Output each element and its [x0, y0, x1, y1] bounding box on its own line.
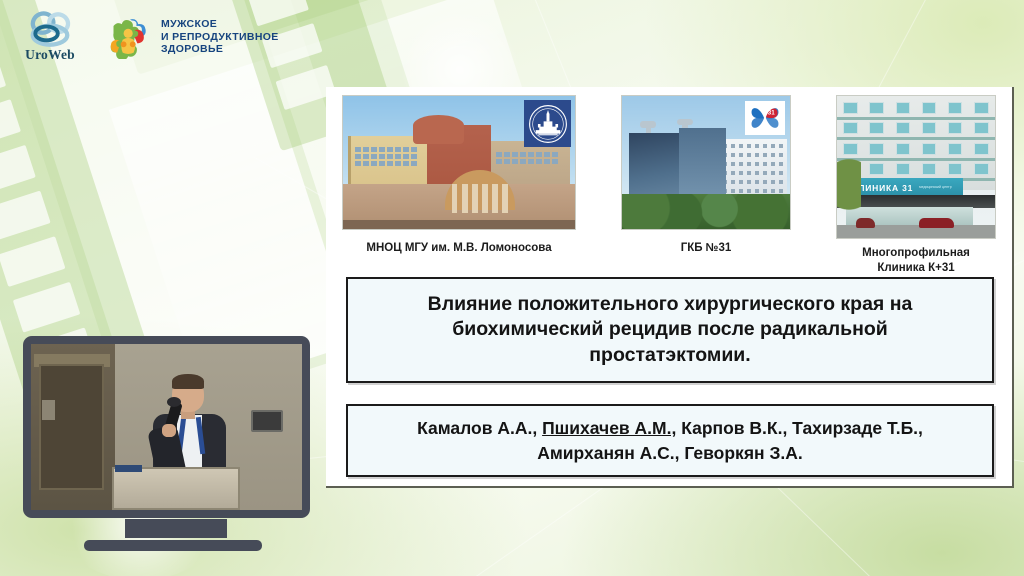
speaker-video-monitor[interactable] [23, 336, 310, 518]
congress-line-2: И РЕПРОДУКТИВНОЕ [161, 31, 279, 43]
uroweb-wordmark: UroWeb [25, 47, 75, 63]
hospital-31-petals-icon: 31 [745, 101, 785, 135]
organizations-row: МНОЦ МГУ им. М.В. Ломоносова [340, 95, 998, 277]
msu-seal-icon [524, 100, 571, 147]
congress-logo: МУЖСКОЕ И РЕПРОДУКТИВНОЕ ЗДОРОВЬЕ [108, 15, 279, 59]
clinic-sign-text: КЛИНИКА 31 [852, 183, 913, 193]
puzzle-people-icon [108, 15, 152, 59]
author-list-line-2: Амирханян А.С., Геворкян З.А. [537, 443, 803, 463]
clinic-sign-subtext: медицинский центр [919, 186, 952, 190]
author-list-suffix: Карпов В.К., Тахирзаде Т.Б., [676, 418, 923, 438]
slide-title-line-1: Влияние положительного хирургического кр… [428, 293, 913, 315]
organization-caption: Многопрофильная Клиника К+31 [862, 246, 970, 277]
organization-caption: МНОЦ МГУ им. М.В. Ломоносова [366, 241, 551, 256]
msu-medical-center-building-photo [342, 95, 576, 230]
presenting-author: Пшихачев А.М., [542, 418, 676, 438]
congress-line-3: ЗДОРОВЬЕ [161, 43, 279, 55]
slide-authors-box: Камалов А.А., Пшихачев А.М., Карпов В.К.… [346, 404, 994, 477]
slide-authors: Камалов А.А., Пшихачев А.М., Карпов В.К.… [405, 416, 935, 464]
uroweb-logo: UroWeb [14, 11, 86, 63]
k31-clinic-building-photo: КЛИНИКА 31 медицинский центр [836, 95, 996, 239]
slide-title-box: Влияние положительного хирургического кр… [346, 277, 994, 383]
svg-text:31: 31 [768, 109, 775, 116]
organization-caption-line-1: Многопрофильная [862, 246, 970, 261]
speaker-presentation-video[interactable] [31, 344, 302, 510]
slide-title-line-3: простатэктомии. [589, 344, 750, 366]
uroweb-rings-icon [24, 11, 76, 49]
congress-name: МУЖСКОЕ И РЕПРОДУКТИВНОЕ ЗДОРОВЬЕ [161, 18, 279, 55]
organization-caption: ГКБ №31 [681, 241, 732, 256]
wall-display-icon [251, 410, 284, 432]
organization-item: КЛИНИКА 31 медицинский центр Многопрофил… [836, 95, 996, 277]
congress-line-1: МУЖСКОЕ [161, 18, 279, 30]
city-clinical-hospital-31-building-photo: 31 [621, 95, 791, 230]
monitor-stand-neck [125, 519, 227, 538]
header-logo-bar: UroWeb МУЖСКОЕ И РЕПРОДУКТИВНОЕ ЗДОРОВ [0, 0, 279, 74]
organization-item: 31 ГКБ №31 [621, 95, 791, 256]
clinic-sign: КЛИНИКА 31 медицинский центр [846, 178, 963, 196]
presentation-screenshot: UroWeb МУЖСКОЕ И РЕПРОДУКТИВНОЕ ЗДОРОВ [0, 0, 1024, 576]
organization-caption-line-2: Клиника К+31 [862, 261, 970, 276]
slide-title: Влияние положительного хирургического кр… [414, 292, 927, 368]
author-list-prefix: Камалов А.А., [417, 418, 542, 438]
monitor-stand-base [84, 540, 262, 551]
slide-title-line-2: биохимический рецидив после радикальной [452, 318, 888, 340]
organization-item: МНОЦ МГУ им. М.В. Ломоносова [342, 95, 576, 256]
